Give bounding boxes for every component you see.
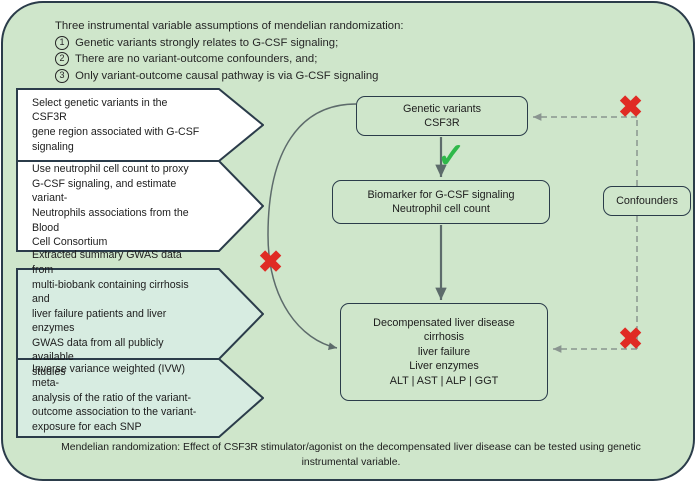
node-genetic-variants-line-1: Genetic variants <box>403 102 481 116</box>
node-biomarker-line-2: Neutrophil cell count <box>367 202 514 216</box>
node-outcome-line-5: ALT | AST | ALP | GGT <box>373 374 515 388</box>
assumption-text-3: Only variant-outcome causal pathway is v… <box>75 70 378 82</box>
node-biomarker: Biomarker for G-CSF signaling Neutrophil… <box>332 180 550 224</box>
callout-4-line-1: Inverse variance weighted (IVW) meta- <box>32 362 202 391</box>
assumption-item-1: 1 Genetic variants strongly relates to G… <box>55 35 475 52</box>
assumptions-block: Three instrumental variable assumptions … <box>55 18 475 84</box>
assumption-text-2: There are no variant-outcome confounders… <box>75 53 317 65</box>
footer-line-2: instrumental variable. <box>46 455 656 470</box>
callout-2-line-1: Use neutrophil cell count to proxy <box>32 162 202 177</box>
check-mark-icon: ✓ <box>437 139 466 173</box>
node-confounders-label: Confounders <box>616 194 678 208</box>
callout-4-line-4: exposure for each SNP <box>32 420 202 435</box>
assumption-item-3: 3 Only variant-outcome causal pathway is… <box>55 68 475 85</box>
node-genetic-variants-text: Genetic variants CSF3R <box>403 102 481 131</box>
callout-4-text: Inverse variance weighted (IVW) meta- an… <box>16 362 264 435</box>
node-outcome-line-4: Liver enzymes <box>373 359 515 373</box>
callout-3-line-2: multi-biobank containing cirrhosis and <box>32 278 202 307</box>
callout-1-text: Select genetic variants in the CSF3R gen… <box>16 96 264 154</box>
callout-gwas-data: Extracted summary GWAS data from multi-b… <box>16 268 264 360</box>
node-outcome-line-1: Decompensated liver disease <box>373 316 515 330</box>
node-outcome: Decompensated liver disease cirrhosis li… <box>340 303 548 401</box>
node-genetic-variants: Genetic variants CSF3R <box>356 96 528 136</box>
callout-3-text: Extracted summary GWAS data from multi-b… <box>16 248 264 379</box>
callout-4-line-3: outcome association to the variant- <box>32 405 202 420</box>
callout-2-text: Use neutrophil cell count to proxy G-CSF… <box>16 162 264 250</box>
node-genetic-variants-line-2: CSF3R <box>403 116 481 130</box>
callout-2-line-2: G-CSF signaling, and estimate variant- <box>32 177 202 206</box>
node-confounders: Confounders <box>603 186 691 216</box>
assumptions-heading: Three instrumental variable assumptions … <box>55 18 475 35</box>
callout-select-variants: Select genetic variants in the CSF3R gen… <box>16 88 264 162</box>
assumption-text-1: Genetic variants strongly relates to G-C… <box>75 37 338 49</box>
node-biomarker-line-1: Biomarker for G-CSF signaling <box>367 188 514 202</box>
assumption-item-2: 2 There are no variant-outcome confounde… <box>55 51 475 68</box>
callout-4-line-2: analysis of the ratio of the variant- <box>32 391 202 406</box>
footer-line-1: Mendelian randomization: Effect of CSF3R… <box>46 440 656 455</box>
x-mark-confounder-variant-icon: ✖ <box>618 93 643 123</box>
callout-1-line-1: Select genetic variants in the CSF3R <box>32 96 202 125</box>
callout-3-line-1: Extracted summary GWAS data from <box>32 248 202 277</box>
callout-ivw-meta-analysis: Inverse variance weighted (IVW) meta- an… <box>16 358 264 438</box>
callout-neutrophil-proxy: Use neutrophil cell count to proxy G-CSF… <box>16 160 264 252</box>
callout-1-line-3: signaling <box>32 140 202 155</box>
node-outcome-line-2: cirrhosis <box>373 330 515 344</box>
node-outcome-text: Decompensated liver disease cirrhosis li… <box>373 316 515 388</box>
assumption-number-3: 3 <box>55 69 69 83</box>
callout-2-line-3: Neutrophils associations from the Blood <box>32 206 202 235</box>
node-outcome-line-3: liver failure <box>373 345 515 359</box>
diagram-canvas: Three instrumental variable assumptions … <box>0 0 700 484</box>
assumption-number-2: 2 <box>55 52 69 66</box>
assumption-number-1: 1 <box>55 36 69 50</box>
callout-3-line-3: liver failure patients and liver enzymes <box>32 307 202 336</box>
callout-1-line-2: gene region associated with G-CSF <box>32 125 202 140</box>
node-biomarker-text: Biomarker for G-CSF signaling Neutrophil… <box>367 188 514 217</box>
footer-caption: Mendelian randomization: Effect of CSF3R… <box>46 440 656 470</box>
x-mark-confounder-outcome-icon: ✖ <box>618 325 643 355</box>
